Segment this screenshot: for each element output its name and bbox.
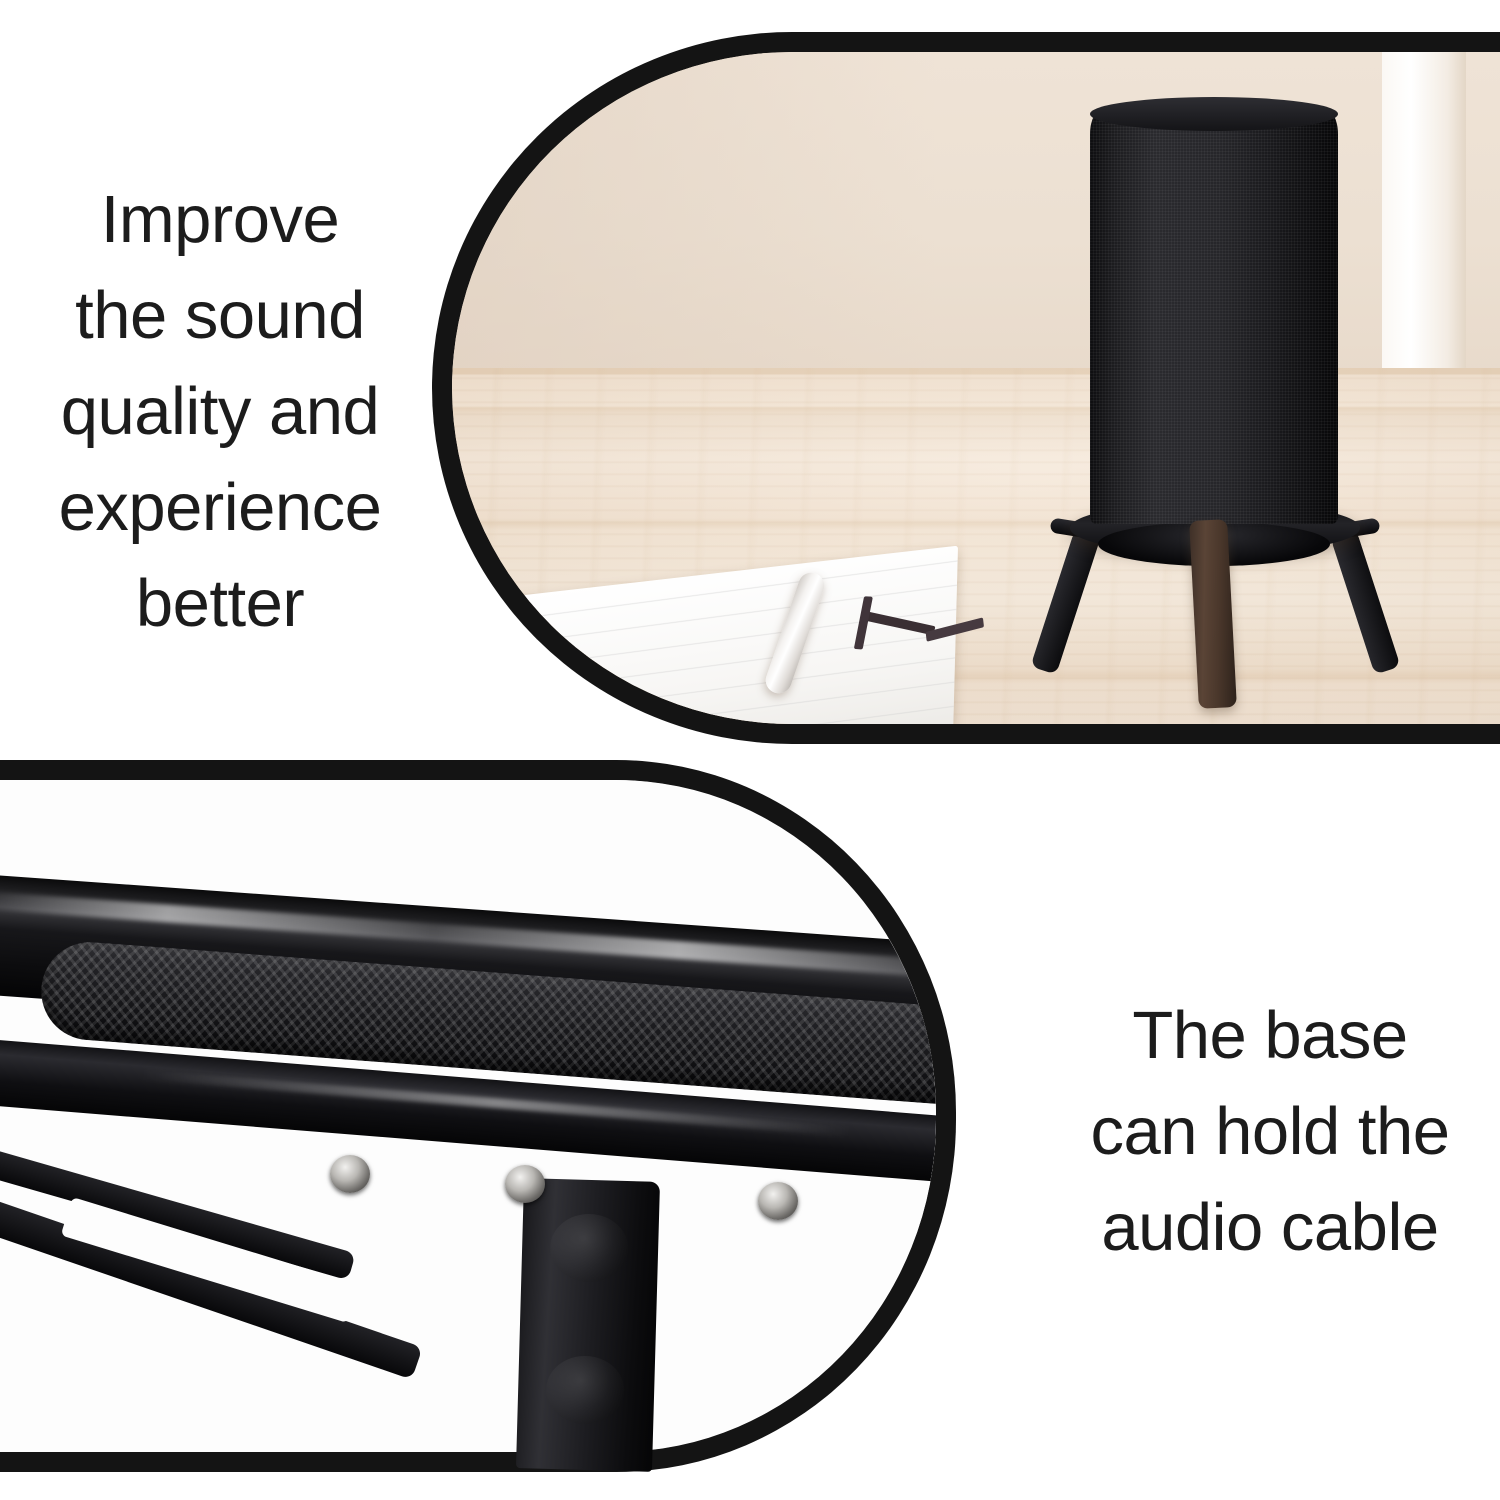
caption-bottom-line-3: audio cable <box>1055 1180 1485 1276</box>
speaker-mesh-texture <box>1090 108 1338 524</box>
photo-panel-top <box>432 32 1500 744</box>
bracket-screw-3 <box>758 1182 798 1220</box>
caption-bottom-line-2: can hold the <box>1055 1084 1485 1180</box>
wall-background <box>452 52 1500 382</box>
caption-bottom-line-1: The base <box>1055 988 1485 1084</box>
caption-top-line-4: experience <box>10 460 430 556</box>
caption-top-line-2: the sound <box>10 268 430 364</box>
stand-center-post <box>516 1178 660 1472</box>
post-dimple-upper <box>549 1213 629 1283</box>
photo-panel-bottom-image <box>0 780 936 1452</box>
caption-top-line-1: Improve <box>10 172 430 268</box>
speaker-body <box>1090 108 1338 524</box>
infographic-stage: Improve the sound quality and experience… <box>0 0 1500 1500</box>
photo-panel-top-image <box>452 52 1500 724</box>
photo-panel-bottom <box>0 760 956 1472</box>
post-dimple-lower <box>545 1355 625 1425</box>
bracket-screw-2 <box>505 1165 545 1203</box>
speaker-top-face <box>1090 97 1338 131</box>
caption-bottom: The base can hold the audio cable <box>1055 988 1485 1276</box>
bracket-screw-1 <box>330 1155 370 1193</box>
caption-top-line-5: better <box>10 556 430 652</box>
door-frame-column <box>1382 52 1466 382</box>
caption-top: Improve the sound quality and experience… <box>10 172 430 652</box>
wall-shadow <box>452 52 937 382</box>
caption-top-line-3: quality and <box>10 364 430 460</box>
